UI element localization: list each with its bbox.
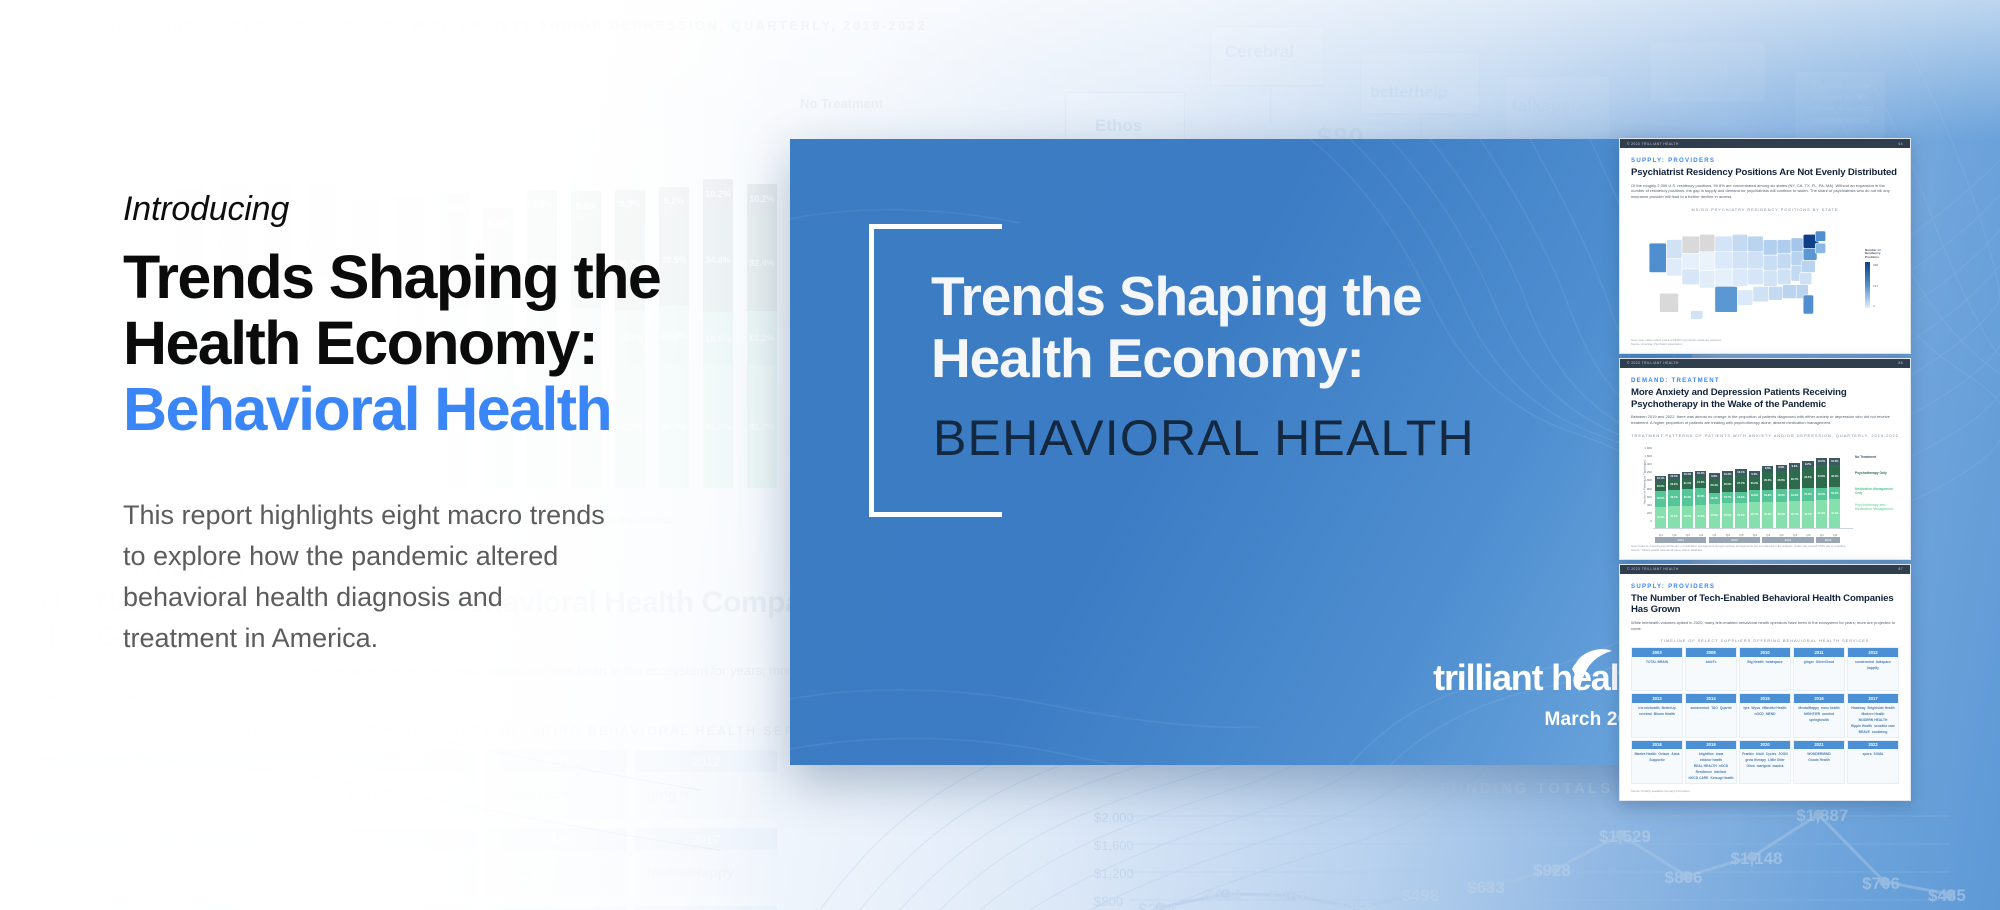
watermark-funding-value-label: $254 xyxy=(1138,900,1176,910)
timeline-company-logo: Alma xyxy=(1671,752,1679,756)
watermark-funding-value-label: $494 xyxy=(1204,886,1242,906)
page-heading: The Number of Tech-Enabled Behavioral He… xyxy=(1631,593,1899,616)
timeline-company-logo: TOTAL BRAIN xyxy=(1646,660,1668,664)
bar-segment: 18.7% xyxy=(1722,492,1733,503)
swoosh-icon xyxy=(1570,647,1614,693)
watermark-funding-value-label: $467 xyxy=(1270,887,1308,907)
bar-y-tick: 800 xyxy=(1639,487,1652,491)
watermark-funding-value-label: $252 xyxy=(1336,900,1374,910)
bar-year-band: 2021 xyxy=(1762,537,1813,543)
page-header-left: © 2023 TRILLIANT HEALTH xyxy=(1627,361,1679,365)
bar-segment: 28.8% xyxy=(1776,471,1787,489)
timeline-company-logo: happify xyxy=(1867,666,1879,670)
bar-segment: 40.7% xyxy=(1668,506,1679,528)
page-description: Of the roughly 2,006 U.S. residency posi… xyxy=(1631,183,1899,200)
bar-column: 10.4%25.0%18.7%42.0% xyxy=(1722,471,1733,528)
bar-y-tick: 600 xyxy=(1639,495,1652,499)
headline-line-1: Trends Shaping the xyxy=(123,245,743,311)
watermark-funding-value-label: $498 xyxy=(1401,886,1439,906)
timeline-company-logo: meru health xyxy=(1821,706,1840,710)
timeline-logo-list: WONDERMINDGoode Health xyxy=(1794,749,1844,765)
timeline-company-logo: Uwill xyxy=(1756,752,1764,756)
timeline-company-logo: sensible care xyxy=(1874,724,1895,728)
page-note: Note: Patients receiving psychotherapy o… xyxy=(1631,544,1899,552)
timeline-cell: 2021WONDERMINDGoode Health xyxy=(1793,740,1845,784)
timeline-year-label: 2010 xyxy=(1740,648,1790,656)
page-header-left: © 2023 TRILLIANT HEALTH xyxy=(1627,142,1679,146)
timeline-company-logo: talkspace xyxy=(1876,660,1891,664)
bar-segment: 29.0% xyxy=(1762,472,1773,490)
timeline-company-logo: JOON xyxy=(1778,752,1787,756)
bar-segment: 40.8% xyxy=(1709,504,1720,528)
headline-accent-behavioral-health: Behavioral Health xyxy=(123,377,743,443)
timeline-year-label: 2008 xyxy=(1686,648,1736,656)
page-heading: Psychiatrist Residency Positions Are Not… xyxy=(1631,167,1899,179)
us-choropleth-map: Number of Residency Positions 268 137 4 xyxy=(1631,215,1899,333)
bar-segment: 34.8% xyxy=(1816,465,1827,488)
bar-segment: 40.7% xyxy=(1789,501,1800,527)
bar-segment: 41.2% xyxy=(1829,499,1840,527)
bar-segment: 30.7% xyxy=(1789,469,1800,489)
timeline-year-label: 2017 xyxy=(1848,694,1898,702)
bar-chart-axis-line xyxy=(1653,528,1853,529)
background-top-wash xyxy=(0,0,2000,140)
page-note: Note: Gray states reflect a lack of MD/D… xyxy=(1631,338,1899,346)
watermark-funding-value-label: $633 xyxy=(1467,878,1505,898)
bar-segment: 20.0% xyxy=(1802,488,1813,501)
bar-segment: 40.2% xyxy=(1655,507,1666,528)
watermark-funding-value-label: $928 xyxy=(1533,861,1571,881)
timeline-year-label: 2018 xyxy=(1632,741,1682,749)
watermark-funding-value-label: $1,148 xyxy=(1731,849,1783,869)
timeline-company-logo: cerebral xyxy=(1639,712,1652,716)
report-page-psychiatrist-residency[interactable]: © 2023 TRILLIANT HEALTH 64 SUPPLY: PROVI… xyxy=(1619,138,1911,354)
page-header-bar: © 2023 TRILLIANT HEALTH 87 xyxy=(1620,565,1910,574)
timeline-company-logo: mantra xyxy=(1773,764,1784,768)
logo-wordmark: trilliant health xyxy=(1433,657,1650,699)
timeline-company-logo: lyra xyxy=(1744,706,1750,710)
timeline-year-label: 2015 xyxy=(1740,694,1790,702)
us-map-svg xyxy=(1637,215,1862,330)
timeline-company-logo: SilverCloud xyxy=(1816,660,1834,664)
timeline-company-logo: WONDERMIND xyxy=(1807,752,1830,756)
bar-segment: 40.7% xyxy=(1802,501,1813,528)
map-legend-mid: 137 xyxy=(1873,284,1878,288)
timeline-company-logo: Supportiv xyxy=(1649,758,1664,762)
timeline-company-logo: Wysa xyxy=(1751,706,1760,710)
map-legend-title: Number of Residency Positions xyxy=(1865,249,1895,260)
bar-segment: 40.8% xyxy=(1695,505,1706,528)
bar-column: 10.1%20.0%30.0%40.2% xyxy=(1655,476,1666,528)
screenshot-stage: TREATMENT PATTERNS OF PATIENTS WITH ANXI… xyxy=(0,0,2000,910)
timeline-company-logo: marigold xyxy=(1757,764,1771,768)
timeline-company-logo: nOCD xyxy=(1754,712,1763,716)
timeline-company-logo: Cycles xyxy=(1766,752,1777,756)
timeline-company-logo: headspace xyxy=(1766,660,1783,664)
report-date: March 2023 xyxy=(1350,709,1650,731)
bar-year-band: 2022 xyxy=(1816,537,1841,543)
bar-year-band: 2020 xyxy=(1709,537,1760,543)
timeline-company-logo: towa xyxy=(1716,752,1724,756)
timeline-cell: 2022sporaSOMA xyxy=(1847,740,1899,784)
watermark-funding-value-label: $1,887 xyxy=(1796,806,1848,826)
timeline-company-logo: AbleTo xyxy=(1706,660,1717,664)
page-header-bar: © 2023 TRILLIANT HEALTH 64 xyxy=(1620,139,1910,148)
timeline-year-label: 2003 xyxy=(1632,648,1682,656)
bar-legend-item: Medication Management Only xyxy=(1855,488,1899,496)
slide-title-line-2: Health Economy: xyxy=(931,328,1631,390)
timeline-company-logo: grow therapy xyxy=(1745,758,1766,762)
bar-segment: 19.6% xyxy=(1749,490,1760,502)
bar-segment: 20.2% xyxy=(1668,479,1679,490)
timeline-logo-list: Mantra HealthOctaveAlmaSupportiv xyxy=(1632,749,1682,765)
timeline-cell: 2018Mantra HealthOctaveAlmaSupportiv xyxy=(1631,740,1683,784)
timeline-logo-list: HeadwayBrightside HealthModern HealthMOD… xyxy=(1848,703,1898,737)
timeline-cell: 2010Big Healthheadspace xyxy=(1739,647,1791,691)
page-kicker: DEMAND: TREATMENT xyxy=(1631,377,1899,384)
timeline-company-logo: springhealth xyxy=(1809,718,1829,722)
stacked-bar-chart: Number of Patients (in Thousands) 1,8001… xyxy=(1631,442,1899,542)
timeline-cell: 2017HeadwayBrightside HealthModern Healt… xyxy=(1847,693,1899,737)
timeline-company-logo: MIGHTIER xyxy=(1804,712,1820,716)
bar-segment: 25.0% xyxy=(1722,477,1733,492)
report-pages-stack[interactable]: © 2023 TRILLIANT HEALTH 64 SUPPLY: PROVI… xyxy=(1619,138,1911,805)
map-legend-gradient xyxy=(1865,262,1870,308)
bar-segment: 19.6% xyxy=(1762,490,1773,502)
report-cover-slide[interactable]: Trends Shaping the Health Economy: BEHAV… xyxy=(790,139,1692,765)
bar-column: 9.8%23.4%19.4%40.8% xyxy=(1709,473,1720,527)
timeline-company-logo: Frankie xyxy=(1742,752,1754,756)
timeline-company-logo: TAO xyxy=(1711,706,1718,710)
bar-segment: 30.0% xyxy=(1655,491,1666,507)
chart-title: TREATMENT PATTERNS OF PATIENTS WITH ANXI… xyxy=(1631,433,1899,438)
bar-segment: 10.2% xyxy=(1816,458,1827,465)
timeline-cell: 2019brightlinetowaeleanor healthREAL HEA… xyxy=(1685,740,1737,784)
timeline-company-logo: eleanor health xyxy=(1700,758,1722,762)
timeline-company-logo: NOCD CARE xyxy=(1688,776,1708,780)
page-note: Source: Publicly available company infor… xyxy=(1631,789,1899,793)
timeline-company-logo: MODERN HEALTH xyxy=(1859,718,1888,722)
bar-column: 9.9%28.8%19.3%40.5% xyxy=(1776,465,1787,528)
slide-title-line-1: Trends Shaping the xyxy=(931,266,1631,328)
bar-column: 10.2%34.8%18.5%41.2% xyxy=(1816,458,1827,527)
hero-text-block: Introducing Trends Shaping the Health Ec… xyxy=(123,190,743,659)
timeline-company-logo: BRAVE xyxy=(1859,730,1870,734)
timeline-cell: 2016MentalHappymeru healthMIGHTIERunmind… xyxy=(1793,693,1845,737)
timeline-cell: 2015lyraWysaeMindful HealthnOCDMEND xyxy=(1739,693,1791,737)
bar-segment: 40.8% xyxy=(1735,503,1746,527)
timeline-company-logo: Octave xyxy=(1658,752,1669,756)
timeline-cell: 2014sondermindTAOQuartet xyxy=(1685,693,1737,737)
timeline-company-logo: ginger xyxy=(1804,660,1814,664)
watermark-funding-value-label: $706 xyxy=(1862,874,1900,894)
timeline-logo-list: MentalHappymeru healthMIGHTIERunmindspri… xyxy=(1794,703,1844,725)
timeline-company-logo: eMindful Health xyxy=(1762,706,1787,710)
bar-column: 10.2%32.4%18.2%41.2% xyxy=(1829,458,1840,528)
timeline-logo-list: Big Healthheadspace xyxy=(1740,657,1790,667)
trilliant-health-logo: trilliant health March 2023 xyxy=(1350,657,1650,731)
timeline-cell: 2020FrankieUwillCyclesJOONgrow therapyLi… xyxy=(1739,740,1791,784)
timeline-company-logo: brightline xyxy=(1699,752,1714,756)
timeline-company-logo: spora xyxy=(1863,752,1872,756)
bar-segment: 30.7% xyxy=(1668,490,1679,506)
page-kicker: SUPPLY: PROVIDERS xyxy=(1631,583,1899,590)
chart-title: TIMELINE OF SELECT SUPPLIERS OFFERING BE… xyxy=(1631,638,1899,643)
bar-y-tick: 0 xyxy=(1639,519,1652,523)
bar-segment: 23.4% xyxy=(1709,479,1720,493)
timeline-company-logo: nOCD xyxy=(1719,764,1728,768)
page-body: DEMAND: TREATMENT More Anxiety and Depre… xyxy=(1620,368,1910,559)
page-header-left: © 2023 TRILLIANT HEALTH xyxy=(1627,567,1679,571)
bar-segment: 20.0% xyxy=(1655,481,1666,491)
bar-column: 9.2%30.5%20.0%40.7% xyxy=(1802,461,1813,527)
timeline-logo-list: sporaSOMA xyxy=(1848,749,1898,759)
bar-segment: 18.2% xyxy=(1829,487,1840,499)
page-body: SUPPLY: PROVIDERS The Number of Tech-Ena… xyxy=(1620,574,1910,800)
report-page-psychotherapy-trends[interactable]: © 2023 TRILLIANT HEALTH 85 DEMAND: TREAT… xyxy=(1619,358,1911,560)
bar-y-tick: 200 xyxy=(1639,511,1652,515)
timeline-company-logo: Little Otter xyxy=(1768,758,1785,762)
bar-y-tick: 1,800 xyxy=(1639,446,1652,450)
timeline-logo-list: sondermindtalkspacehappify xyxy=(1848,657,1898,673)
timeline-year-label: 2012 xyxy=(1848,648,1898,656)
bar-column: 10.4%21.1%30.4%40.7% xyxy=(1682,472,1693,528)
timeline-cell: 2013iris telehealthBetterUpcerebralBloom… xyxy=(1631,693,1683,737)
timeline-company-logo: Headway xyxy=(1851,706,1865,710)
bar-segment: 27.7% xyxy=(1735,475,1746,492)
page-heading: More Anxiety and Depression Patients Rec… xyxy=(1631,387,1899,410)
hero-description: This report highlights eight macro trend… xyxy=(123,495,623,659)
bar-column: 9.3%20.2%19.6%40.7% xyxy=(1749,471,1760,527)
timeline-company-logo: Modern Health xyxy=(1862,712,1885,716)
watermark-funding-value-label: $485 xyxy=(1928,886,1966,906)
timeline-company-logo: unmind xyxy=(1822,712,1834,716)
bar-segment: 42.0% xyxy=(1722,503,1733,528)
timeline-company-logo: BetterUp xyxy=(1662,706,1676,710)
timeline-logo-list: TOTAL BRAIN xyxy=(1632,657,1682,667)
bar-segment: 40.7% xyxy=(1682,506,1693,528)
bar-segment: 21.0% xyxy=(1695,477,1706,489)
bar-y-tick: 400 xyxy=(1639,503,1652,507)
timeline-logo-list: AbleTo xyxy=(1686,657,1736,667)
page-header-bar: © 2023 TRILLIANT HEALTH 85 xyxy=(1620,359,1910,368)
timeline-company-logo: sondermind xyxy=(1855,660,1874,664)
eyebrow-introducing: Introducing xyxy=(123,190,743,229)
timeline-logo-list: iris telehealthBetterUpcerebralBloom Hea… xyxy=(1632,703,1682,719)
chart-title: MS/DO PSYCHIATRY RESIDENCY POSITIONS BY … xyxy=(1631,207,1899,212)
report-page-tech-enabled-companies[interactable]: © 2023 TRILLIANT HEALTH 87 SUPPLY: PROVI… xyxy=(1619,564,1911,801)
bar-segment: 30.5% xyxy=(1802,467,1813,487)
page-header-right: 85 xyxy=(1898,361,1903,365)
logo-text: trilliant health xyxy=(1433,657,1650,698)
bar-y-tick: 1,400 xyxy=(1639,462,1652,466)
bar-y-tick: 1,000 xyxy=(1639,478,1652,482)
timeline-company-logo: sondermind xyxy=(1690,706,1709,710)
timeline-year-label: 2011 xyxy=(1794,648,1844,656)
bar-column: 10.1%27.7%19.0%40.8% xyxy=(1735,469,1746,528)
bar-year-band: 2019 xyxy=(1655,537,1706,543)
bar-segment: 32.4% xyxy=(1829,465,1840,487)
map-legend: Number of Residency Positions 268 137 4 xyxy=(1865,249,1895,308)
timeline-company-logo: Bloom Health xyxy=(1654,712,1675,716)
page-body: SUPPLY: PROVIDERS Psychiatrist Residency… xyxy=(1620,148,1910,353)
slide-subtitle: BEHAVIORAL HEALTH xyxy=(933,409,1475,467)
timeline-year-label: 2016 xyxy=(1794,694,1844,702)
timeline-logo-list: lyraWysaeMindful HealthnOCDMEND xyxy=(1740,703,1790,719)
timeline-year-label: 2020 xyxy=(1740,741,1790,749)
timeline-company-logo: Ketsugi Health xyxy=(1710,776,1733,780)
timeline-logo-list: gingerSilverCloud xyxy=(1794,657,1844,667)
bar-column: 9.3%30.7%18.3%40.7% xyxy=(1789,463,1800,527)
bar-segment: 19.4% xyxy=(1709,493,1720,504)
timeline-cell: 2008AbleTo xyxy=(1685,647,1737,691)
bar-segment: 40.7% xyxy=(1749,502,1760,528)
bar-segment: 18.5% xyxy=(1816,488,1827,500)
watermark-funding-value-label: $806 xyxy=(1665,868,1703,888)
bar-segment: 10.2% xyxy=(1829,458,1840,465)
bar-segment: 30.4% xyxy=(1682,489,1693,505)
bar-column: 10.1%21.0%30.2%40.8% xyxy=(1695,471,1706,528)
page-header-right: 64 xyxy=(1898,142,1903,146)
bar-legend-item: Psychotherapy Only xyxy=(1855,472,1899,476)
bar-legend-item: Psychotherapy and Medication Management xyxy=(1855,504,1899,512)
timeline-company-logo: soulbeing xyxy=(1872,730,1888,734)
map-legend-low: 4 xyxy=(1873,304,1875,308)
bar-segment: 40.9% xyxy=(1762,502,1773,528)
timeline-company-logo: iris telehealth xyxy=(1638,706,1659,710)
timeline-company-logo: MentalHappy xyxy=(1798,706,1819,710)
timeline-company-logo: Quartet xyxy=(1720,706,1732,710)
timeline-year-label: 2013 xyxy=(1632,694,1682,702)
bar-legend-item: No Treatment xyxy=(1855,456,1899,460)
timeline-company-logo: MEND xyxy=(1766,712,1776,716)
bar-segment: 30.2% xyxy=(1695,488,1706,505)
slide-title: Trends Shaping the Health Economy: xyxy=(931,266,1631,389)
watermark-funding-value-label: $1,529 xyxy=(1599,827,1651,847)
page-description: Between 2019 and 2022, there was almost … xyxy=(1631,414,1899,425)
page-header-right: 87 xyxy=(1898,567,1903,571)
bar-column: 10.4%20.2%30.7%40.7% xyxy=(1668,474,1679,528)
bar-segment: 18.3% xyxy=(1789,489,1800,501)
timeline-year-label: 2014 xyxy=(1686,694,1736,702)
timeline-logo-list: sondermindTAOQuartet xyxy=(1686,703,1736,713)
timeline-logo-list: brightlinetowaeleanor healthREAL HEALTHn… xyxy=(1686,749,1736,783)
timeline-company-logo: Goode Health xyxy=(1808,758,1829,762)
bar-segment: 41.2% xyxy=(1816,500,1827,527)
bar-segment: 19.0% xyxy=(1735,492,1746,503)
timeline-year-label: 2022 xyxy=(1848,741,1898,749)
headline-line-2: Health Economy: xyxy=(123,311,743,377)
bar-y-tick: 1,200 xyxy=(1639,470,1652,474)
page-description: While telehealth volumes spiked in 2020,… xyxy=(1631,620,1899,631)
company-timeline-grid: 2003TOTAL BRAIN2008AbleTo2010Big Healthh… xyxy=(1631,647,1899,783)
timeline-cell: 2012sondermindtalkspacehappify xyxy=(1847,647,1899,691)
timeline-company-logo: Resilience xyxy=(1696,770,1712,774)
map-legend-high: 268 xyxy=(1873,263,1878,267)
timeline-cell: 2011gingerSilverCloud xyxy=(1793,647,1845,691)
bar-column: 9.5%29.0%19.6%40.9% xyxy=(1762,466,1773,528)
timeline-year-label: 2021 xyxy=(1794,741,1844,749)
timeline-company-logo: Brightside Health xyxy=(1868,706,1895,710)
timeline-year-label: 2019 xyxy=(1686,741,1736,749)
timeline-company-logo: Oliva xyxy=(1747,764,1755,768)
watermark-funding-title: FUNDING TOTALS xyxy=(1440,780,1613,797)
timeline-company-logo: Big Health xyxy=(1747,660,1763,664)
timeline-company-logo: REAL HEALTH xyxy=(1694,764,1717,768)
timeline-cell: 2003TOTAL BRAIN xyxy=(1631,647,1683,691)
bar-segment: 19.3% xyxy=(1776,489,1787,501)
bar-segment: 21.1% xyxy=(1682,478,1693,489)
timeline-company-logo: Mantra Health xyxy=(1635,752,1657,756)
timeline-company-logo: intellect xyxy=(1714,770,1726,774)
timeline-company-logo: Ripple Health xyxy=(1851,724,1872,728)
bar-segment: 40.5% xyxy=(1776,502,1787,528)
timeline-logo-list: FrankieUwillCyclesJOONgrow therapyLittle… xyxy=(1740,749,1790,771)
page-kicker: SUPPLY: PROVIDERS xyxy=(1631,157,1899,164)
timeline-company-logo: SOMA xyxy=(1874,752,1884,756)
bar-segment: 20.2% xyxy=(1749,477,1760,490)
page-title: Trends Shaping the Health Economy: Behav… xyxy=(123,245,743,443)
bar-y-tick: 1,600 xyxy=(1639,454,1652,458)
